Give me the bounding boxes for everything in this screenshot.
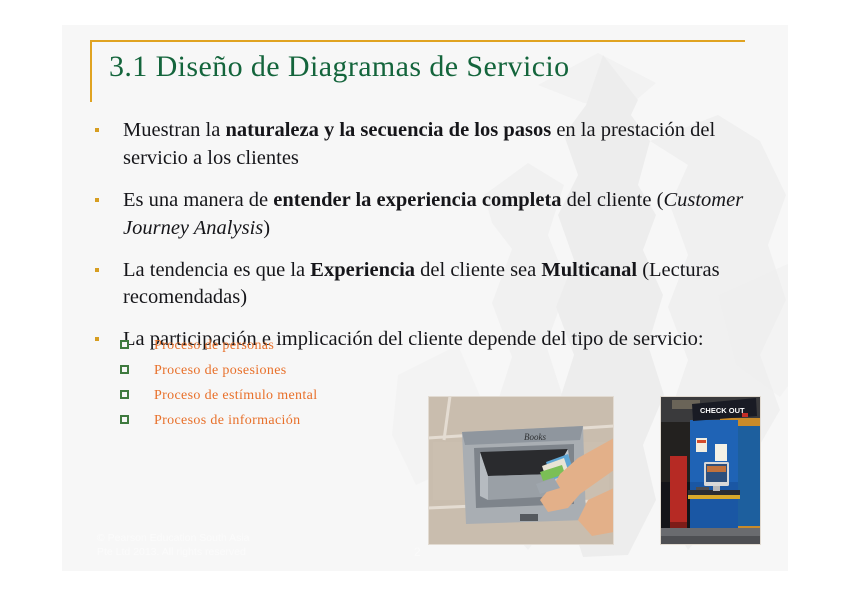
svg-text:CHECK OUT: CHECK OUT [700,406,745,415]
sub-bullet-list: Proceso de personas Proceso de posesione… [117,337,447,437]
bullet-item-2: Es una manera de entender la experiencia… [86,187,756,243]
bullet-item-3: La tendencia es que la Experiencia del c… [86,257,756,313]
sub-bullet-label: Proceso de posesiones [154,363,287,378]
bullet-marker-icon [95,337,99,341]
copyright-notice: © Pearson Education South Asia Pte Ltd 2… [97,532,327,560]
square-box-icon [120,340,129,349]
bullet-list: Muestran la naturaleza y la secuencia de… [86,117,756,368]
sub-bullet-label: Proceso de personas [154,338,274,353]
sub-bullet-item-3: Proceso de estímulo mental [117,387,447,405]
square-box-icon [120,365,129,374]
square-box-icon [120,390,129,399]
bullet-marker-icon [95,128,99,132]
copyright-line-2: Pte Ltd 2013. All rights reserved [97,546,327,560]
svg-text:Books: Books [524,432,546,442]
sub-bullet-item-1: Proceso de personas [117,337,447,355]
sub-bullet-label: Procesos de información [154,413,300,428]
bullet-marker-icon [95,268,99,272]
sub-bullet-item-4: Procesos de información [117,412,447,430]
square-box-icon [120,415,129,424]
photo-self-checkout-kiosk: CHECK OUT [660,396,761,545]
title-rule: 3.1 Diseño de Diagramas de Servicio [90,40,745,102]
sub-bullet-label: Proceso de estímulo mental [154,388,317,403]
copyright-line-1: © Pearson Education South Asia [97,532,327,546]
sub-bullet-item-2: Proceso de posesiones [117,362,447,380]
bullet-item-1: Muestran la naturaleza y la secuencia de… [86,117,756,173]
page-title: 3.1 Diseño de Diagramas de Servicio [109,50,570,84]
slide-number: 2 [414,545,421,559]
bullet-text-2: Es una manera de entender la experiencia… [123,189,743,239]
bullet-text-1: Muestran la naturaleza y la secuencia de… [123,119,715,169]
bullet-text-3: La tendencia es que la Experiencia del c… [123,259,720,309]
photo-book-drop-slot: Books [428,396,614,545]
bullet-marker-icon [95,198,99,202]
presentation-slide: 3.1 Diseño de Diagramas de Servicio Mues… [62,25,788,571]
